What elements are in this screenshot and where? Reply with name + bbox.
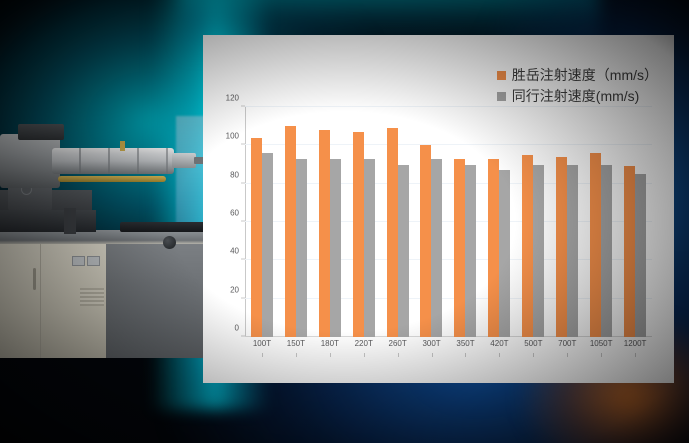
background-vignette [0, 0, 689, 443]
screenshot-root: 胜岳注射速度（mm/s） 同行注射速度(mm/s) 02040608010012… [0, 0, 689, 443]
